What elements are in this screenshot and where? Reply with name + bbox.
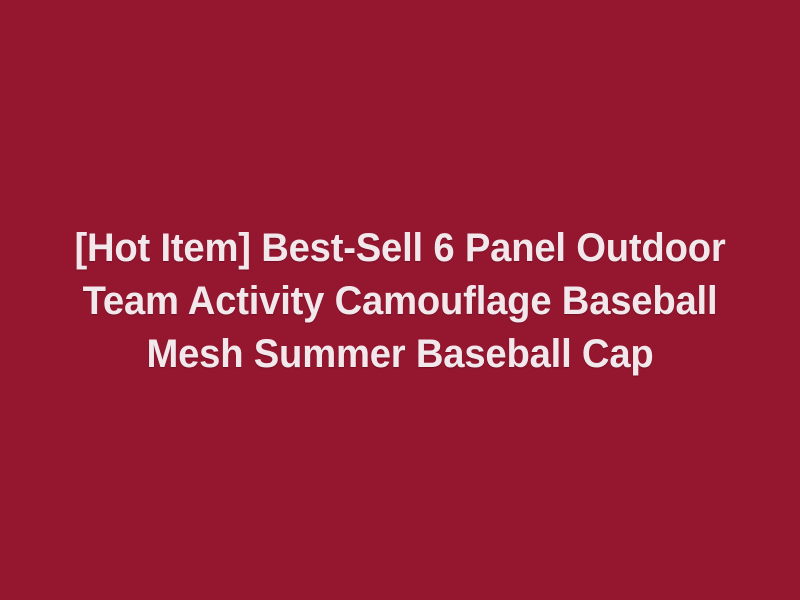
- product-title-line-1: [Hot Item] Best-Sell 6 Panel Outdoor: [45, 222, 756, 275]
- product-title-card: [Hot Item] Best-Sell 6 Panel Outdoor Tea…: [0, 0, 800, 600]
- product-title-line-2: Team Activity Camouflage Baseball: [45, 275, 756, 328]
- product-title: [Hot Item] Best-Sell 6 Panel Outdoor Tea…: [0, 222, 800, 381]
- product-title-line-3: Mesh Summer Baseball Cap: [45, 328, 756, 381]
